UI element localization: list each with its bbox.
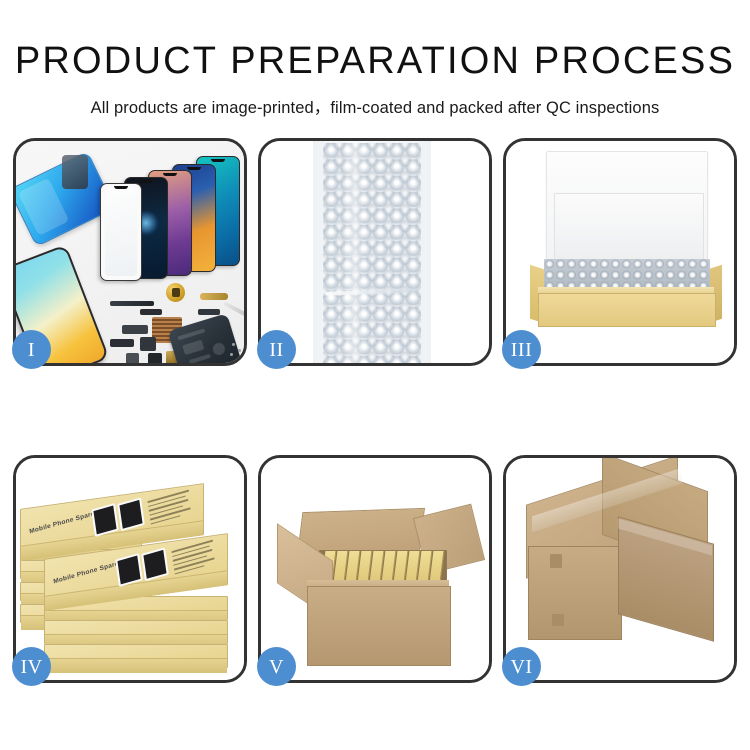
step-panel-6[interactable]: VI (503, 455, 737, 683)
step-badge-5: V (257, 647, 296, 686)
flex-cable-icon (122, 325, 148, 334)
gold-flex-cable-icon (200, 293, 228, 300)
phone-screen-glass-protector (100, 183, 142, 281)
step-badge-6: VI (502, 647, 541, 686)
connector-icon (110, 339, 134, 347)
screen-connector-icon (62, 155, 88, 189)
process-step-grid: I II (13, 138, 737, 683)
sim-tray-icon (126, 353, 139, 363)
box-front-panel-icon (538, 293, 716, 327)
speaker-module-icon (166, 283, 185, 302)
step-image-2 (261, 141, 489, 363)
page-title: PRODUCT PREPARATION PROCESS (0, 42, 750, 80)
screw-icon (232, 343, 235, 346)
step-image-1 (16, 141, 244, 363)
step-badge-4: IV (12, 647, 51, 686)
step-image-5 (261, 458, 489, 680)
retail-box-stack: Mobile Phone Spare Parts Mobile Phone Sp… (20, 474, 244, 674)
camera-module-icon (140, 337, 156, 351)
earpiece-mesh-icon (110, 301, 154, 306)
screw-icon (230, 353, 233, 356)
header: PRODUCT PREPARATION PROCESS All products… (0, 0, 750, 118)
step-image-3 (506, 141, 734, 363)
retail-box (44, 620, 228, 644)
step-badge-1: I (12, 330, 51, 369)
retail-box (44, 644, 228, 668)
step-panel-4[interactable]: Mobile Phone Spare Parts Mobile Phone Sp… (13, 455, 247, 683)
carton-body (307, 586, 451, 666)
step-panel-3[interactable]: III (503, 138, 737, 366)
power-button-flex-icon (140, 309, 162, 315)
step-image-4: Mobile Phone Spare Parts Mobile Phone Sp… (16, 458, 244, 680)
sealed-carton-front (528, 546, 622, 640)
carton-hand-hole (552, 614, 564, 626)
bubble-wrap-pouch-icon (313, 141, 431, 363)
step-badge-2: II (257, 330, 296, 369)
volume-button-flex-icon (198, 309, 220, 315)
page-subtitle: All products are image-printed，film-coat… (0, 94, 750, 118)
phone-screen-fan (100, 155, 244, 280)
vibrator-motor-icon (148, 353, 162, 363)
step-panel-2[interactable]: II (258, 138, 492, 366)
carton-hand-hole (550, 554, 562, 568)
box-lid-front-icon (554, 193, 704, 267)
step-badge-3: III (502, 330, 541, 369)
pouch-sheen (343, 141, 365, 363)
bubble-pattern (323, 143, 421, 363)
screw-icon (238, 349, 241, 352)
spare-parts-group (104, 281, 244, 363)
product-preparation-page: PRODUCT PREPARATION PROCESS All products… (0, 0, 750, 750)
step-panel-1[interactable]: I (13, 138, 247, 366)
step-image-6 (506, 458, 734, 680)
step-panel-5[interactable]: V (258, 455, 492, 683)
